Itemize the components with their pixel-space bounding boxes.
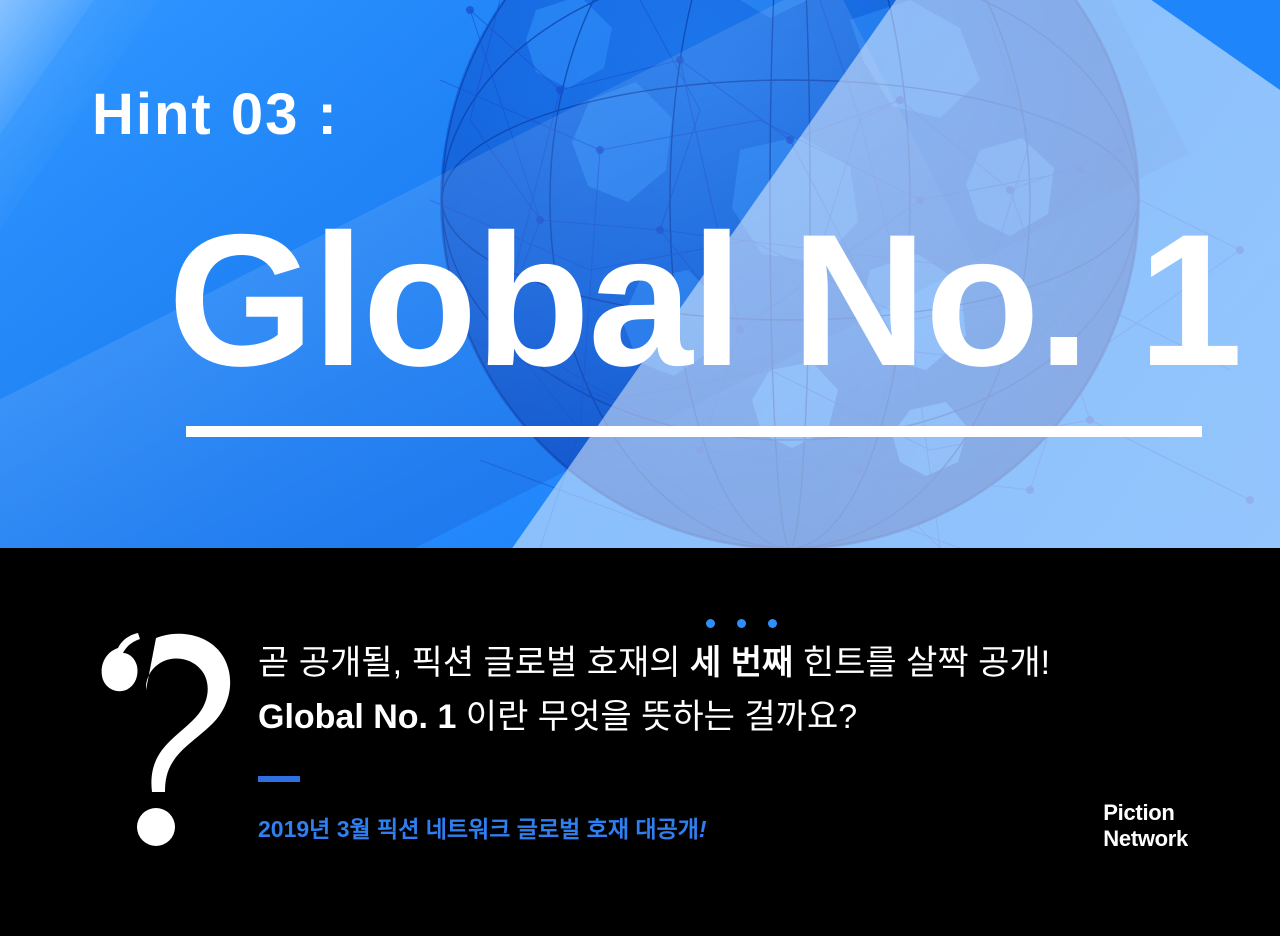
hero-section: Hint 03 : Global No. 1 [0, 0, 1280, 548]
body-line1-emphasis-text: 세 번째 [690, 644, 793, 682]
hint-label: Hint 03 : [92, 86, 339, 144]
question-mark-icon [96, 630, 246, 850]
caption-text: 2019년 3월 픽션 네트워크 글로벌 호재 대공개! [258, 810, 707, 844]
body-line2-strong: Global No. 1 [258, 698, 456, 736]
body-line-1: 곧 공개될, 픽션 글로벌 호재의 세 번째 힌트를 살짝 공개! [258, 636, 1218, 690]
body-line1-post: 힌트를 살짝 공개! [793, 644, 1050, 682]
caption-exclamation: ! [699, 816, 707, 842]
brand-line-1: Piction [1103, 800, 1188, 826]
accent-divider [258, 776, 300, 782]
body-line1-pre: 곧 공개될, 픽션 글로벌 호재의 [258, 644, 690, 682]
body-line-2: Global No. 1 이란 무엇을 뜻하는 걸까요? [258, 690, 1218, 744]
body-line1-emphasis: 세 번째 [690, 636, 793, 690]
page-title: Global No. 1 [168, 206, 1241, 394]
body-line2-rest: 이란 무엇을 뜻하는 걸까요? [456, 698, 857, 736]
brand-logo: Piction Network [1103, 800, 1188, 852]
brand-line-2: Network [1103, 826, 1188, 852]
emphasis-dots-icon [690, 619, 793, 628]
description-panel: 곧 공개될, 픽션 글로벌 호재의 세 번째 힌트를 살짝 공개! Global… [0, 548, 1280, 936]
body-copy: 곧 공개될, 픽션 글로벌 호재의 세 번째 힌트를 살짝 공개! Global… [258, 636, 1218, 744]
caption-main: 2019년 3월 픽션 네트워크 글로벌 호재 대공개 [258, 816, 699, 842]
title-underline [186, 426, 1202, 437]
poster-canvas: Hint 03 : Global No. 1 곧 공개될, 픽션 글로벌 호재의… [0, 0, 1280, 936]
